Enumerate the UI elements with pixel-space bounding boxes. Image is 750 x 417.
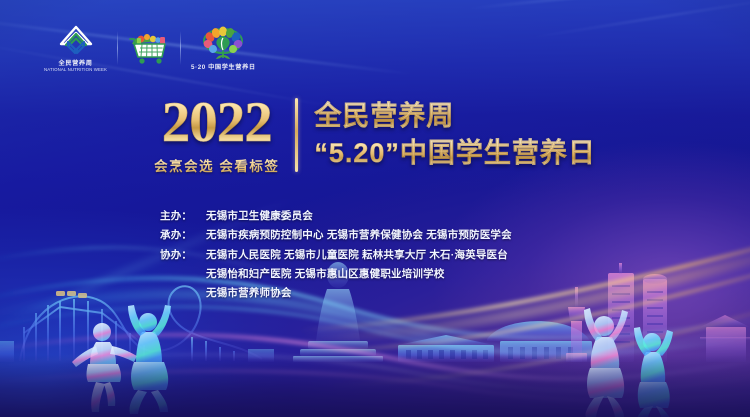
logo-student-nutrition-day: 5·20 中国学生营养日 [191, 26, 256, 71]
logo-student-day-caption-cn: 5·20 中国学生营养日 [191, 64, 256, 71]
year-block: 2022 会烹会选 会看标签 [154, 96, 279, 175]
credit-row-host: 主办： 无锡市卫生健康委员会 [160, 208, 590, 224]
credit-value-host: 无锡市卫生健康委员会 [206, 208, 590, 224]
logo-nutrition-week: 全民营养周 NATIONAL NUTRITION WEEK [44, 24, 107, 72]
credit-value-organizer: 无锡市疾病预防控制中心 无锡市营养保健协会 无锡市预防医学会 [206, 227, 590, 243]
headline-divider [295, 98, 298, 172]
credits-block: 主办： 无锡市卫生健康委员会 承办： 无锡市疾病预防控制中心 无锡市营养保健协会… [0, 208, 750, 301]
credit-value-coorganizer-3: 无锡市营养师协会 [206, 285, 590, 301]
headline-inner: 2022 会烹会选 会看标签 全民营养周 “5.20”中国学生营养日 [154, 96, 596, 175]
logo-nutrition-week-caption-cn: 全民营养周 [44, 60, 107, 67]
credit-value-coorganizer-2: 无锡怡和妇产医院 无锡市惠山区惠健职业培训学校 [206, 266, 590, 282]
year-subtitle: 会烹会选 会看标签 [154, 155, 279, 175]
credit-row-organizer: 承办： 无锡市疾病预防控制中心 无锡市营养保健协会 无锡市预防医学会 [160, 227, 590, 243]
credit-value-coorganizer-1: 无锡市人民医院 无锡市儿童医院 耘林共享大厅 木石·海英导医台 [206, 247, 590, 263]
credit-row-coorganizer-1: 协办： 无锡市人民医院 无锡市儿童医院 耘林共享大厅 木石·海英导医台 [160, 247, 590, 263]
year-text: 2022 [162, 96, 272, 151]
pagoda-roof-icon [56, 24, 96, 58]
flower-emblem-icon [201, 26, 245, 62]
logo-divider-2 [180, 31, 181, 65]
logo-bar: 全民营养周 NATIONAL NUTRITION WEEK [44, 24, 256, 72]
credit-label-host: 主办： [160, 208, 206, 224]
logo-divider-1 [117, 31, 118, 65]
bottom-fade-overlay [0, 355, 750, 417]
logo-food-cart [128, 28, 170, 68]
logo-nutrition-week-caption-en: NATIONAL NUTRITION WEEK [44, 67, 107, 72]
credit-label-coorganizer: 协办： [160, 247, 206, 263]
title-block: 全民营养周 “5.20”中国学生营养日 [314, 100, 596, 170]
logo-student-nutrition-day-caption: 5·20 中国学生营养日 [191, 64, 256, 71]
credit-label-organizer: 承办： [160, 227, 206, 243]
title-line-1: 全民营养周 [314, 100, 596, 133]
shopping-cart-icon [128, 28, 170, 66]
logo-nutrition-week-caption: 全民营养周 NATIONAL NUTRITION WEEK [44, 60, 107, 72]
headline-block: 2022 会烹会选 会看标签 全民营养周 “5.20”中国学生营养日 [0, 96, 750, 175]
credit-row-coorganizer-3: 协办： 无锡市营养师协会 [160, 285, 590, 301]
title-line-2: “5.20”中国学生营养日 [314, 137, 596, 170]
credit-row-coorganizer-2: 协办： 无锡怡和妇产医院 无锡市惠山区惠健职业培训学校 [160, 266, 590, 282]
poster-canvas: 全民营养周 NATIONAL NUTRITION WEEK [0, 0, 750, 417]
